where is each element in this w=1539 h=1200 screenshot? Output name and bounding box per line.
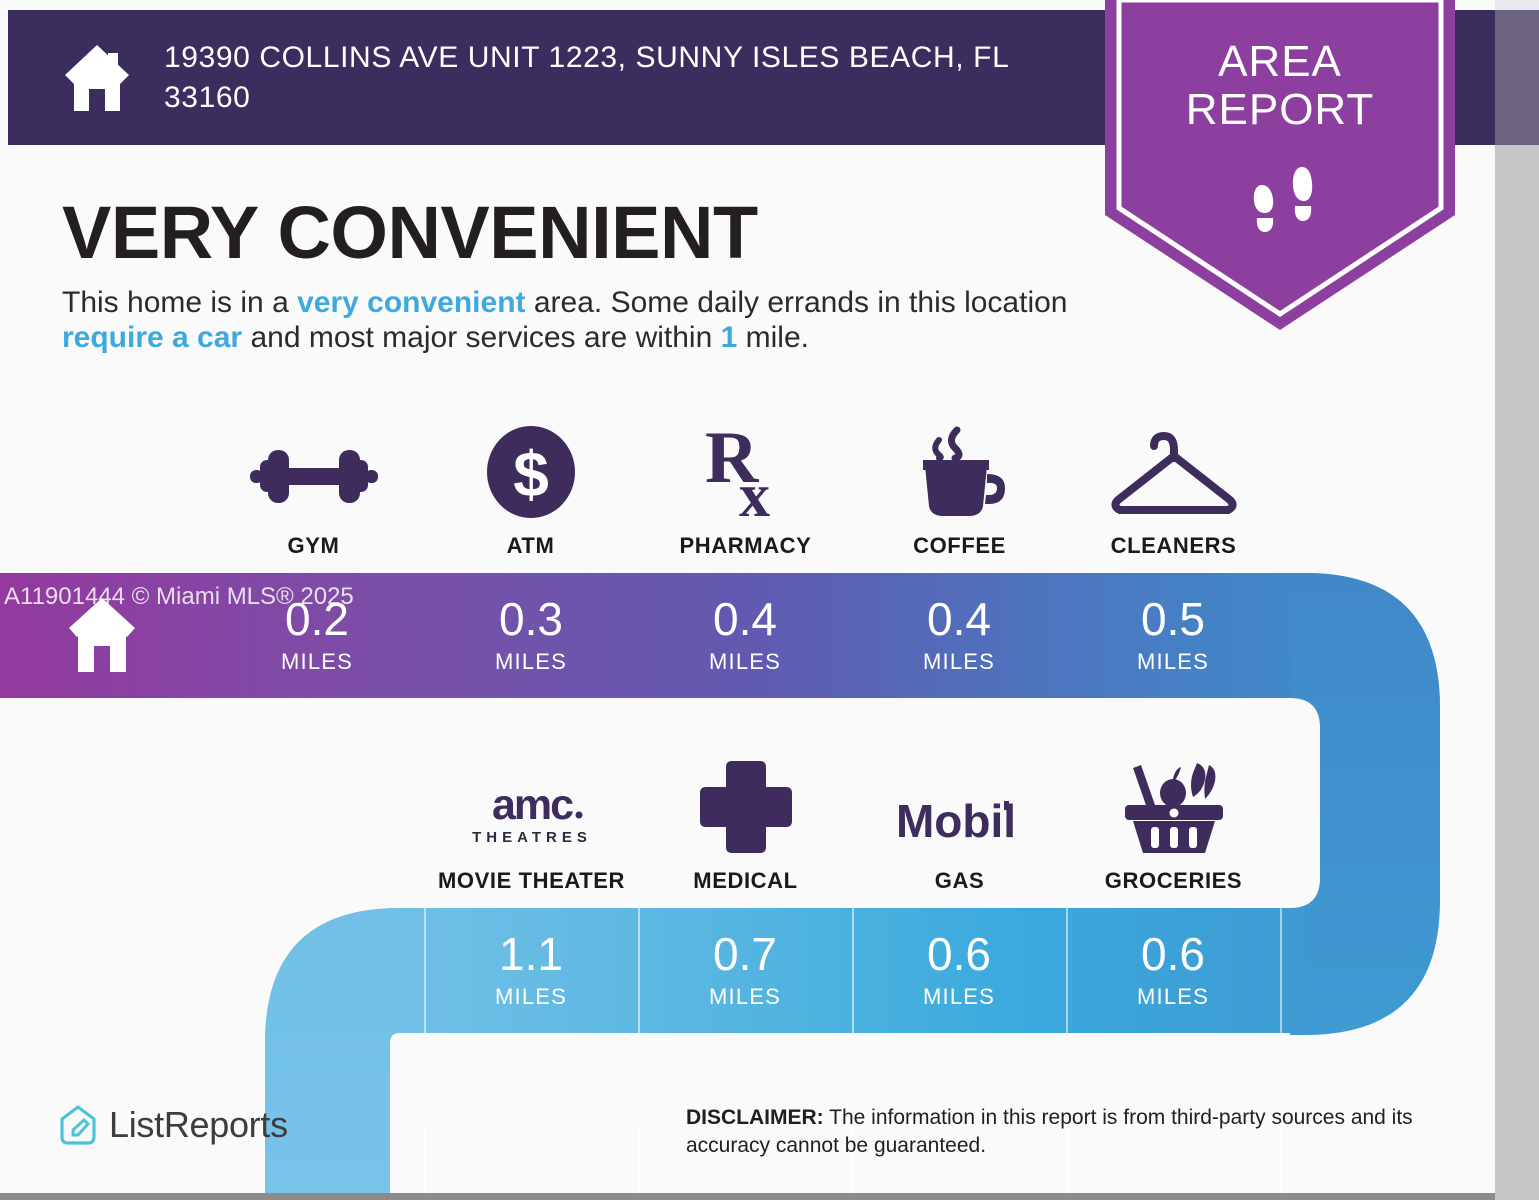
badge-title: AREA REPORT bbox=[1105, 38, 1455, 133]
distance-unit: MILES bbox=[709, 649, 781, 675]
badge-line-2: REPORT bbox=[1105, 86, 1455, 134]
distance-unit: MILES bbox=[1137, 649, 1209, 675]
disclaimer: DISCLAIMER: The information in this repo… bbox=[686, 1104, 1476, 1161]
svg-text:$: $ bbox=[513, 438, 549, 510]
poi-label: COFFEE bbox=[913, 533, 1006, 559]
summary-part-4: mile. bbox=[737, 321, 809, 354]
distance-value: 0.7 bbox=[713, 931, 777, 977]
segment-divider bbox=[1066, 908, 1068, 1033]
listreports-logo bbox=[58, 1104, 98, 1146]
footprints-icon bbox=[1242, 155, 1332, 245]
icon-container bbox=[1110, 420, 1238, 520]
poi-column-pharmacy: R x PHARMACY bbox=[638, 420, 853, 559]
medical-cross-icon bbox=[698, 759, 794, 855]
distance-segment-movie-theater: 1.1 MILES bbox=[424, 908, 638, 1033]
summary-part-2: area. Some daily errands in this locatio… bbox=[526, 286, 1068, 319]
poi-column-coffee: COFFEE bbox=[852, 420, 1067, 559]
segment-divider bbox=[638, 908, 640, 1033]
svg-text:Mobil: Mobil bbox=[895, 795, 1015, 847]
distance-unit: MILES bbox=[923, 984, 995, 1010]
icon-container: $ bbox=[483, 420, 579, 520]
coffee-cup-icon bbox=[905, 424, 1015, 520]
segment-divider bbox=[852, 908, 854, 1033]
dollar-coin-icon: $ bbox=[483, 424, 579, 520]
icon-container bbox=[1119, 755, 1229, 855]
distance-unit: MILES bbox=[495, 649, 567, 675]
distance-segment-cleaners: 0.5 MILES bbox=[1066, 573, 1280, 698]
distance-unit: MILES bbox=[281, 649, 353, 675]
distance-unit: MILES bbox=[1137, 984, 1209, 1010]
icon-container: R x bbox=[691, 420, 801, 520]
icon-container bbox=[905, 420, 1015, 520]
distance-segment-groceries: 0.6 MILES bbox=[1066, 908, 1280, 1033]
summary-part-1: This home is in a bbox=[62, 286, 297, 319]
mls-watermark: A11901444 © Miami MLS® 2025 bbox=[4, 583, 354, 611]
scrollbar-strip[interactable] bbox=[1495, 0, 1539, 1200]
distance-value: 0.5 bbox=[1141, 596, 1205, 642]
home-icon bbox=[60, 43, 134, 113]
summary-highlight-2: require a car bbox=[62, 321, 242, 354]
icon-container bbox=[244, 420, 384, 520]
area-report-badge: AREA REPORT bbox=[1105, 0, 1455, 330]
distance-unit: MILES bbox=[923, 649, 995, 675]
distance-segment-gas: 0.6 MILES bbox=[852, 908, 1066, 1033]
segment-divider bbox=[424, 908, 426, 1033]
hanger-icon bbox=[1110, 424, 1238, 520]
distance-value: 1.1 bbox=[499, 931, 563, 977]
amc-theatres-logo: amc THEATRES bbox=[467, 779, 597, 855]
summary-part-3: and most major services are within bbox=[242, 321, 721, 354]
poi-label: ATM bbox=[507, 533, 555, 559]
poi-column-groceries: GROCERIES bbox=[1066, 755, 1281, 894]
distance-value: 0.6 bbox=[927, 931, 991, 977]
distance-value: 0.3 bbox=[499, 596, 563, 642]
scrollbar-cap bbox=[1495, 0, 1539, 10]
distance-value: 0.6 bbox=[1141, 931, 1205, 977]
distance-value: 0.4 bbox=[713, 596, 777, 642]
poi-column-movie-theater: amc THEATRES MOVIE THEATER bbox=[424, 755, 639, 894]
poi-column-medical: MEDICAL bbox=[638, 755, 853, 894]
poi-column-atm: $ ATM bbox=[423, 420, 638, 559]
poi-column-cleaners: CLEANERS bbox=[1066, 420, 1281, 559]
poi-label: MEDICAL bbox=[693, 868, 797, 894]
bottom-edge bbox=[0, 1193, 1495, 1200]
summary-text: This home is in a very convenient area. … bbox=[62, 285, 1092, 356]
mobil-logo: Mobil bbox=[890, 785, 1030, 855]
distance-segment-coffee: 0.4 MILES bbox=[852, 573, 1066, 698]
poi-label: CLEANERS bbox=[1111, 533, 1237, 559]
poi-label: PHARMACY bbox=[680, 533, 812, 559]
badge-line-1: AREA bbox=[1105, 38, 1455, 86]
page-title: VERY CONVENIENT bbox=[62, 190, 758, 275]
dumbbell-icon bbox=[244, 432, 384, 520]
area-report-page: 19390 COLLINS AVE UNIT 1223, SUNNY ISLES… bbox=[0, 0, 1495, 1200]
summary-highlight-1: very convenient bbox=[297, 286, 525, 319]
disclaimer-label: DISCLAIMER: bbox=[686, 1106, 824, 1129]
segment-divider bbox=[424, 1128, 426, 1200]
poi-label: GYM bbox=[288, 533, 340, 559]
summary-highlight-3: 1 bbox=[721, 321, 738, 354]
property-address: 19390 COLLINS AVE UNIT 1223, SUNNY ISLES… bbox=[164, 38, 1064, 117]
distance-unit: MILES bbox=[495, 984, 567, 1010]
svg-text:THEATRES: THEATRES bbox=[472, 829, 592, 846]
rx-icon: R x bbox=[691, 420, 801, 520]
distance-unit: MILES bbox=[709, 984, 781, 1010]
segment-divider bbox=[638, 1128, 640, 1200]
grocery-basket-icon bbox=[1119, 757, 1229, 855]
segment-divider bbox=[1280, 908, 1282, 1033]
svg-text:x: x bbox=[739, 462, 770, 520]
icon-container bbox=[698, 755, 794, 855]
distance-value: 0.4 bbox=[927, 596, 991, 642]
poi-label: GROCERIES bbox=[1105, 868, 1242, 894]
icon-container: Mobil bbox=[890, 755, 1030, 855]
listreports-brand: ListReports bbox=[58, 1104, 288, 1146]
poi-label: GAS bbox=[935, 868, 984, 894]
distance-segment-atm: 0.3 MILES bbox=[424, 573, 638, 698]
brand-name: ListReports bbox=[109, 1104, 288, 1146]
poi-column-gym: GYM bbox=[206, 420, 421, 559]
icon-container: amc THEATRES bbox=[467, 755, 597, 855]
poi-column-gas: Mobil GAS bbox=[852, 755, 1067, 894]
distance-segment-medical: 0.7 MILES bbox=[638, 908, 852, 1033]
distance-segment-pharmacy: 0.4 MILES bbox=[638, 573, 852, 698]
poi-label: MOVIE THEATER bbox=[438, 868, 625, 894]
svg-text:amc: amc bbox=[491, 781, 572, 829]
scrollbar-track-top bbox=[1495, 10, 1539, 145]
